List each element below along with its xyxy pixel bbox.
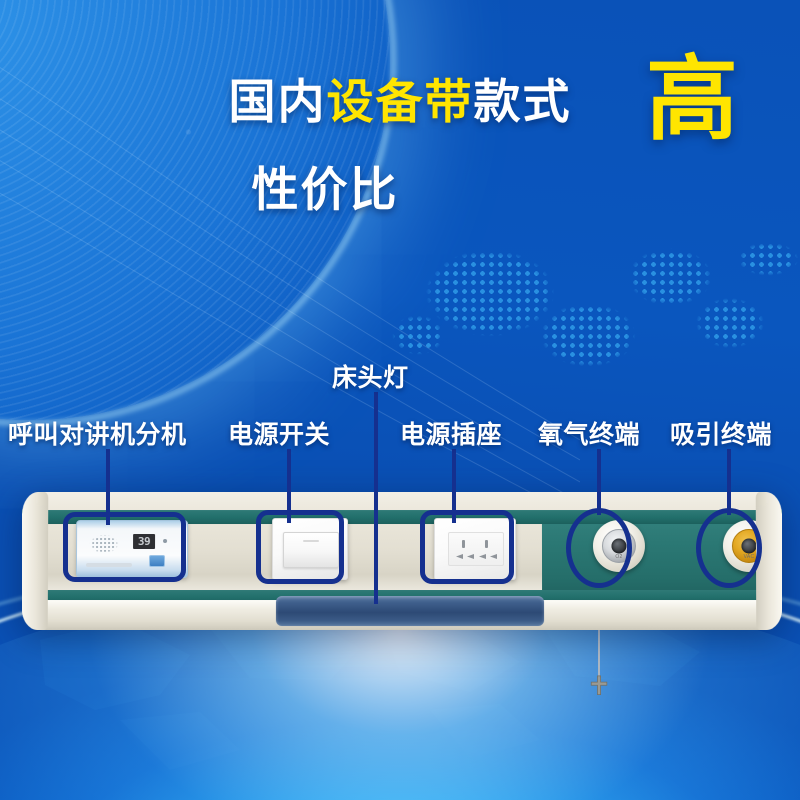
pull-cord-hook-icon xyxy=(585,672,613,700)
headline-highlight: 设备带 xyxy=(327,75,474,128)
leader-line-oxygen-terminal xyxy=(597,449,601,515)
callout-label-suction-terminal[interactable]: 吸引终端 xyxy=(670,415,772,451)
callout-label-bedside-lamp[interactable]: 床头灯 xyxy=(332,358,409,394)
callout-box-power-socket[interactable] xyxy=(420,510,514,584)
headline-part-2: 款式 xyxy=(474,75,572,128)
callout-label-nurse-call[interactable]: 呼叫对讲机分机 xyxy=(8,415,187,451)
headline-line-2: 性价比 xyxy=(0,151,800,220)
callout-label-power-socket[interactable]: 电源插座 xyxy=(400,415,502,451)
callout-label-oxygen-terminal[interactable]: 氧气终端 xyxy=(538,415,640,451)
callout-ellipse-oxygen-terminal[interactable] xyxy=(566,508,632,588)
bedside-lamp[interactable] xyxy=(276,596,544,626)
headline-block: 国内设备带款式 性价比 xyxy=(0,78,800,220)
callout-box-power-switch[interactable] xyxy=(256,510,344,584)
promo-banner: 国内设备带款式 性价比 高 呼叫对讲机分机 电源开关 床头灯 电源插座 氧气终端… xyxy=(0,0,800,800)
headline-part-1: 国内 xyxy=(229,75,327,128)
leader-line-bedside-lamp xyxy=(374,392,378,604)
callout-label-power-switch[interactable]: 电源开关 xyxy=(228,415,330,451)
leader-line-suction-terminal xyxy=(727,449,731,515)
headline-line-1: 国内设备带款式 xyxy=(0,78,800,125)
callout-ellipse-suction-terminal[interactable] xyxy=(696,508,762,588)
panel-end-cap-left xyxy=(22,492,49,630)
dotted-world-map xyxy=(370,215,800,430)
callout-box-nurse-call[interactable] xyxy=(63,512,186,582)
